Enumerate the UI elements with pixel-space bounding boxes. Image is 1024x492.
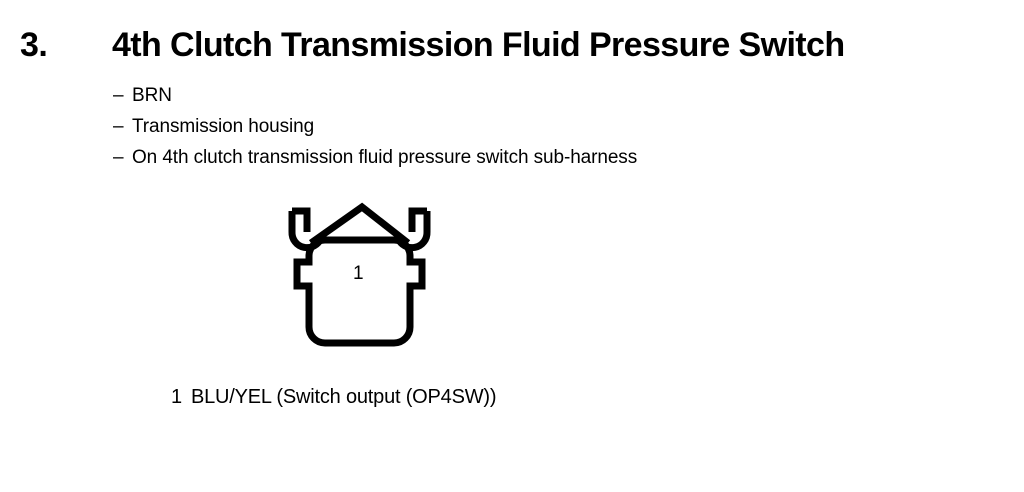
list-item-label: On 4th clutch transmission fluid pressur…: [132, 147, 637, 168]
pin-legend-number: 1: [171, 386, 182, 408]
dash-icon: –: [113, 80, 132, 111]
list-item: –Transmission housing: [113, 111, 933, 142]
connector-detail-list: –BRN –Transmission housing –On 4th clutc…: [113, 80, 933, 173]
list-item: –On 4th clutch transmission fluid pressu…: [113, 142, 933, 173]
connector-view-page: 3. 4th Clutch Transmission Fluid Pressur…: [0, 0, 1024, 492]
list-item-label: BRN: [132, 85, 172, 106]
dash-icon: –: [113, 142, 132, 173]
page-title: 4th Clutch Transmission Fluid Pressure S…: [112, 24, 845, 66]
connector-outline-graphic: [275, 196, 445, 351]
list-item-label: Transmission housing: [132, 116, 314, 137]
list-item: –BRN: [113, 80, 933, 111]
connector-diagram: 1: [275, 196, 445, 351]
section-number: 3.: [20, 24, 47, 66]
dash-icon: –: [113, 111, 132, 142]
section-heading: 3. 4th Clutch Transmission Fluid Pressur…: [0, 24, 1024, 70]
connector-body-outline: [297, 240, 422, 343]
pin-legend-label: BLU/YEL (Switch output (OP4SW)): [191, 386, 496, 408]
pin-legend: 1BLU/YEL (Switch output (OP4SW)): [171, 384, 496, 410]
